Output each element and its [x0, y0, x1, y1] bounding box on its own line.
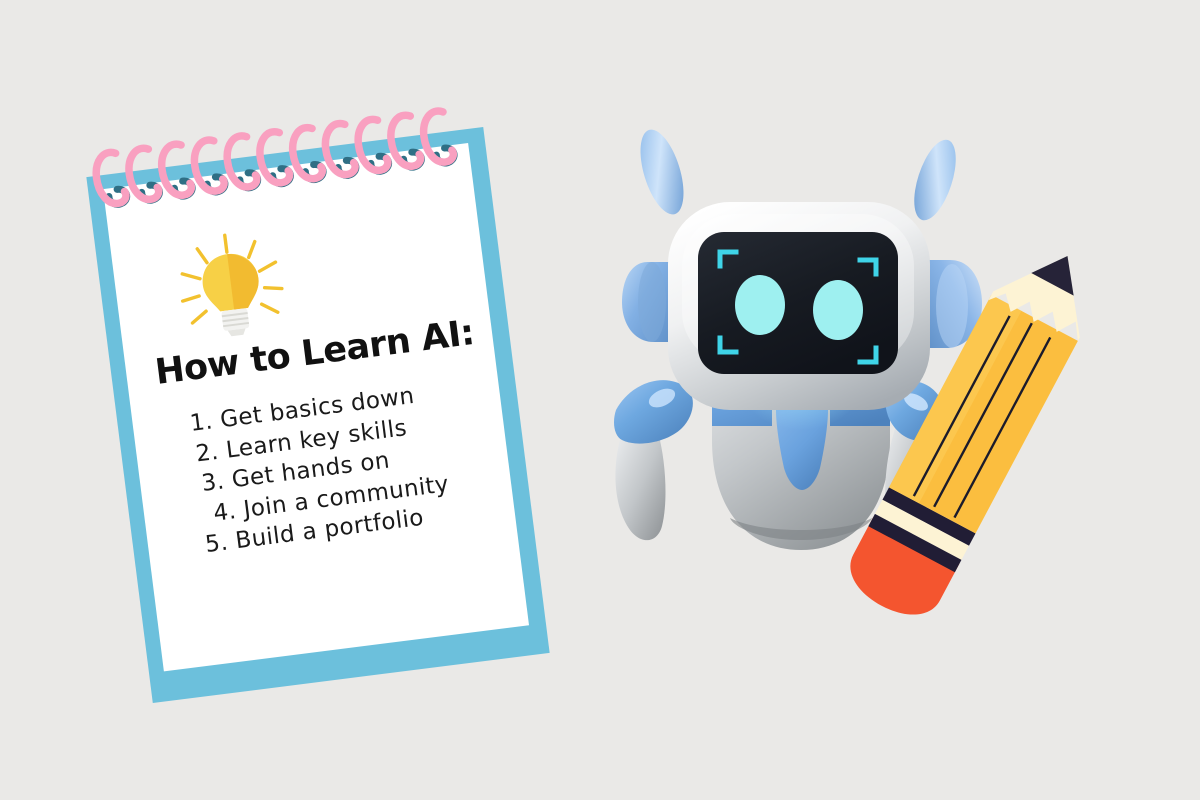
spiral-ring-tail: [239, 172, 258, 189]
spiral-ring-tail: [403, 151, 422, 168]
yellow-pencil: [830, 225, 1120, 635]
notepad: How to Learn AI: 1. Get basics down 2. L…: [86, 127, 549, 703]
notepad-content: How to Learn AI: 1. Get basics down 2. L…: [86, 127, 549, 703]
spiral-ring-tail: [305, 163, 324, 180]
spiral-ring: [421, 110, 454, 165]
antenna-right: [906, 135, 964, 225]
spiral-ring: [192, 139, 225, 194]
scene-canvas: How to Learn AI: 1. Get basics down 2. L…: [0, 0, 1200, 800]
spiral-ring-tail: [272, 168, 291, 185]
spiral-ring-tail: [141, 184, 160, 201]
spiral-ring-tail: [436, 147, 455, 164]
spiral-ring-tail: [174, 180, 193, 197]
spiral-ring: [355, 118, 388, 173]
antenna-left: [632, 125, 692, 220]
spiral-ring: [159, 143, 192, 198]
spiral-ring: [388, 114, 421, 169]
spiral-ring: [257, 130, 290, 185]
robot-arm-left: [614, 380, 693, 540]
spiral-ring-tail: [370, 155, 389, 172]
spiral-ring: [323, 122, 356, 177]
lightbulb-icon: [170, 225, 293, 348]
ear-pod-left-inner: [638, 262, 666, 342]
spiral-ring: [225, 135, 258, 190]
spiral-ring: [126, 147, 159, 202]
spiral-binding: [91, 96, 498, 226]
robot-eye-left: [735, 275, 785, 335]
spiral-ring-tail: [108, 188, 127, 205]
spiral-ring: [290, 126, 323, 181]
note-list: 1. Get basics down 2. Learn key skills 3…: [176, 369, 523, 562]
spiral-ring-tail: [206, 176, 225, 193]
spiral-ring-tail: [337, 159, 356, 176]
spiral-ring: [94, 151, 127, 206]
